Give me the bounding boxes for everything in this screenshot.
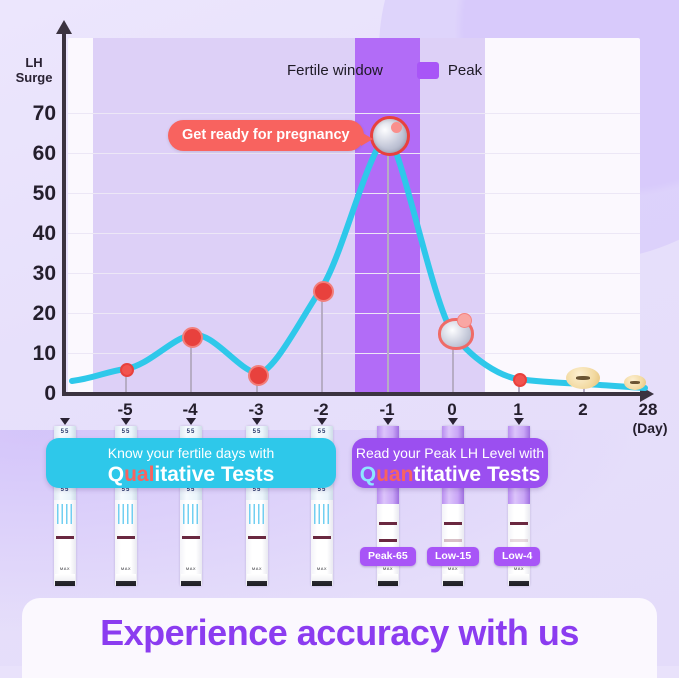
strip-tip (312, 574, 332, 586)
strip-test-line (379, 539, 397, 542)
y-tick-0: 0 (6, 382, 56, 406)
legend-label-peak: Peak (448, 62, 482, 79)
strip-pointer-icon (514, 418, 524, 425)
strip-control-line (444, 522, 462, 525)
data-point-marker (313, 281, 334, 302)
strip-test-line (510, 539, 528, 542)
x-tick-2: 2 (563, 400, 603, 420)
strip-pointer-icon (121, 418, 131, 425)
strip-pointer-icon (383, 418, 393, 425)
cta-qualitative-line1: Know your fertile days with (46, 438, 336, 462)
strip-control-line (313, 536, 331, 539)
ovulated-egg-icon (438, 318, 474, 350)
strip-pointer-icon (317, 418, 327, 425)
strip-max-label: MAX (246, 566, 268, 571)
fertile-window-band (93, 38, 485, 394)
get-ready-bubble: Get ready for pregnancy (168, 120, 364, 151)
y-axis-title-line2: Surge (10, 70, 58, 85)
cta-quantitative-rest: titative Tests (413, 463, 540, 486)
legend-label-fertile-window: Fertile window (287, 62, 383, 79)
strip-code: 55 (180, 429, 202, 435)
y-tick-50: 50 (6, 182, 56, 206)
strip-badge-low-4: Low-4 (494, 547, 540, 566)
y-axis-title: LH Surge (10, 55, 58, 85)
strip-test-line (444, 539, 462, 542)
chart-legend: Fertile window Peak (256, 62, 482, 79)
y-axis-arrow-icon (56, 20, 72, 34)
strip-tip (247, 574, 267, 586)
cta-quantitative-uan: uan (376, 463, 413, 486)
data-point-marker (513, 373, 527, 387)
gridline (68, 313, 640, 314)
strip-tip (443, 574, 463, 586)
fertile-window-swatch (256, 62, 278, 79)
gridline (68, 353, 640, 354)
cta-quantitative-q: Q (360, 463, 376, 486)
chart-card (68, 38, 640, 394)
gridline (68, 113, 640, 114)
strip-max-label: MAX (377, 566, 399, 571)
strip-max-label: MAX (508, 566, 530, 571)
strip-badge-peak: Peak-65 (360, 547, 416, 566)
strip-pointer-icon (186, 418, 196, 425)
y-axis-title-line1: LH (10, 55, 58, 70)
y-tick-10: 10 (6, 342, 56, 366)
strip-control-line (182, 536, 200, 539)
cta-quantitative-tests[interactable]: Read your Peak LH Level with Quantitativ… (352, 438, 548, 488)
data-point-marker (248, 365, 269, 386)
strip-control-line (379, 522, 397, 525)
x-tick-1: 1 (498, 400, 538, 420)
strip-wave-graphic (314, 504, 330, 524)
peak-swatch (417, 62, 439, 79)
strip-max-label: MAX (442, 566, 464, 571)
gridline (68, 193, 640, 194)
strip-code: 55 (246, 429, 268, 435)
strip-pointer-icon (60, 418, 70, 425)
x-axis-unit-label: (Day) (626, 420, 674, 436)
cta-quantitative-line1: Read your Peak LH Level with (352, 438, 548, 462)
strip-max-label: MAX (311, 566, 333, 571)
strip-max-label: MAX (54, 566, 76, 571)
strip-wave-graphic (118, 504, 134, 524)
x-axis-line (62, 392, 642, 396)
strip-pointer-icon (448, 418, 458, 425)
strip-tip (55, 574, 75, 586)
x-tick--5: -5 (105, 400, 145, 420)
cta-qualitative-tests[interactable]: Know your fertile days with Qualitative … (46, 438, 336, 488)
strip-control-line (117, 536, 135, 539)
y-tick-60: 60 (6, 142, 56, 166)
y-tick-20: 20 (6, 302, 56, 326)
gridline (68, 153, 640, 154)
legend-item-fertile-window: Fertile window (256, 62, 383, 79)
y-tick-30: 30 (6, 262, 56, 286)
cta-qualitative-line2: Qualitative Tests (46, 462, 336, 493)
y-axis-line (62, 30, 66, 396)
cta-qualitative-q: Q (108, 463, 124, 486)
gridline (68, 233, 640, 234)
cta-quantitative-line2: Quantitative Tests (352, 462, 548, 493)
strip-control-line (510, 522, 528, 525)
y-tick-70: 70 (6, 102, 56, 126)
strip-tip (509, 574, 529, 586)
legend-item-peak: Peak (417, 62, 482, 79)
strip-control-line (56, 536, 74, 539)
cta-qualitative-rest: itative Tests (154, 463, 274, 486)
x-tick--3: -3 (236, 400, 276, 420)
x-tick--2: -2 (301, 400, 341, 420)
strip-wave-graphic (249, 504, 265, 524)
x-tick-28: 28 (628, 400, 668, 420)
x-tick--4: -4 (170, 400, 210, 420)
gridline (68, 273, 640, 274)
strip-tip (181, 574, 201, 586)
degraded-egg-icon-small (624, 375, 646, 390)
egg-nucleus-icon (457, 313, 472, 328)
strip-tip (116, 574, 136, 586)
strip-wave-graphic (183, 504, 199, 524)
mature-egg-icon (370, 116, 410, 156)
strip-tip (378, 574, 398, 586)
data-point-marker (120, 363, 134, 377)
strip-control-line (248, 536, 266, 539)
strip-max-label: MAX (115, 566, 137, 571)
cta-qualitative-ual: ual (124, 463, 154, 486)
data-point-marker (182, 327, 203, 348)
data-stem (387, 133, 389, 392)
x-tick--1: -1 (367, 400, 407, 420)
strip-max-label: MAX (180, 566, 202, 571)
strip-code: 55 (54, 429, 76, 435)
egg-nucleus-icon (391, 122, 402, 133)
strip-pointer-icon (252, 418, 262, 425)
y-tick-40: 40 (6, 222, 56, 246)
footer-tagline: Experience accuracy with us (22, 612, 657, 654)
strip-code: 55 (115, 429, 137, 435)
data-stem (321, 288, 323, 392)
x-tick-0: 0 (432, 400, 472, 420)
strip-wave-graphic (57, 504, 73, 524)
degraded-egg-icon (566, 367, 600, 389)
strip-badge-low-15: Low-15 (427, 547, 479, 566)
strip-code: 55 (311, 429, 333, 435)
